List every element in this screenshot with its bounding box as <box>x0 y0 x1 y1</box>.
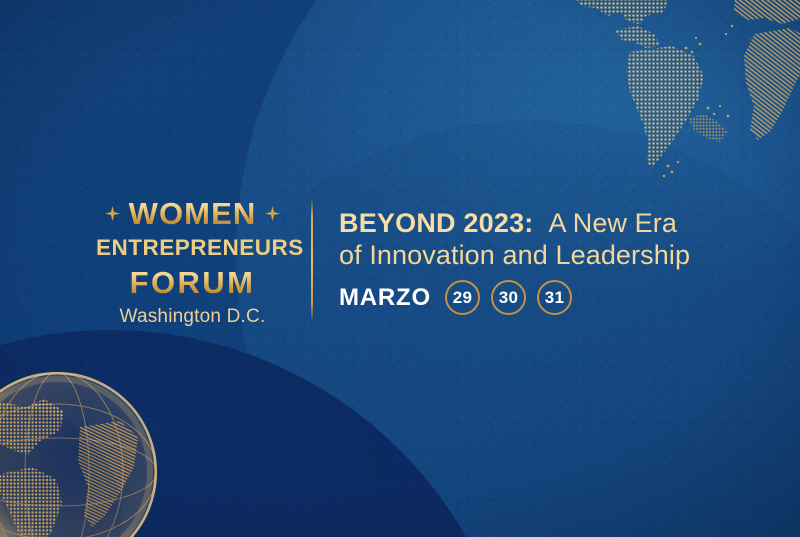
event-day-31: 31 <box>537 280 572 315</box>
dotted-world-map-icon <box>568 0 800 190</box>
event-banner: WOMEN ENTREPRENEURS FORUM Washington D.C… <box>0 0 800 537</box>
star-icon-left <box>105 206 120 221</box>
banner-content: WOMEN ENTREPRENEURS FORUM Washington D.C… <box>96 198 690 326</box>
headline-line-1: BEYOND 2023: A New Era <box>339 208 690 240</box>
event-day-30: 30 <box>491 280 526 315</box>
headline-lead: BEYOND 2023: <box>339 208 533 238</box>
event-day-29: 29 <box>445 280 480 315</box>
headline-rest: A New Era <box>549 208 677 238</box>
event-date-row: MARZO 29 30 31 <box>339 280 690 315</box>
headline-line-2: of Innovation and Leadership <box>339 240 690 272</box>
logo-title-row: WOMEN <box>96 198 289 229</box>
headline-line-2-text: of Innovation and Leadership <box>339 240 690 270</box>
event-month: MARZO <box>339 284 431 312</box>
headline-block: BEYOND 2023: A New Era of Innovation and… <box>313 198 690 326</box>
dotted-globe-icon <box>0 367 162 537</box>
logo-line-forum: FORUM <box>96 267 289 298</box>
logo-city: Washington D.C. <box>96 307 289 326</box>
event-logo-lockup: WOMEN ENTREPRENEURS FORUM Washington D.C… <box>96 198 311 326</box>
star-icon-right <box>265 206 280 221</box>
logo-line-entrepreneurs: ENTREPRENEURS <box>96 237 289 260</box>
logo-line-women: WOMEN <box>129 198 257 229</box>
